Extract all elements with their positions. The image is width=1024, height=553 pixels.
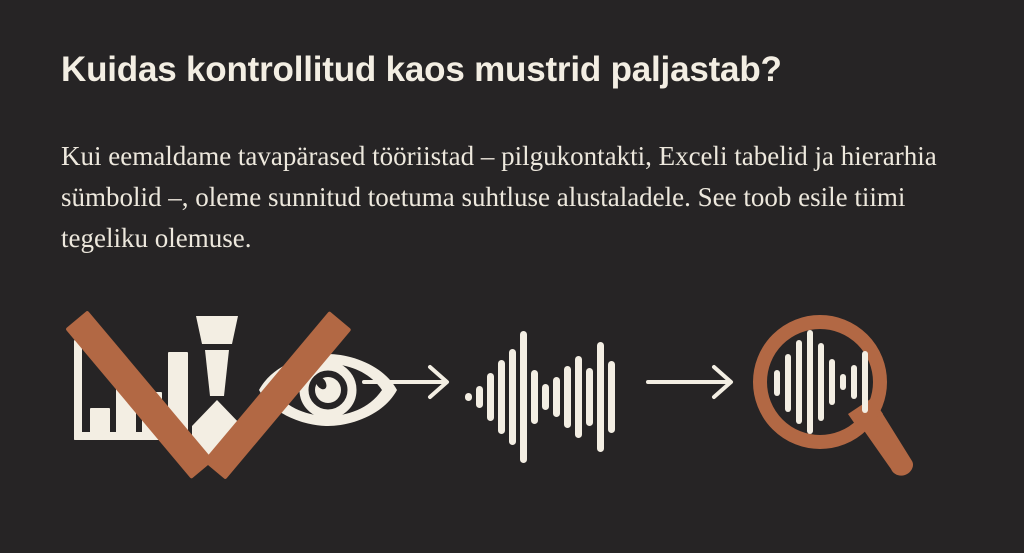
slide-canvas: Kuidas kontrollitud kaos mustrid paljast… [0,0,1024,553]
page-title: Kuidas kontrollitud kaos mustrid paljast… [61,48,961,92]
arrow-right-icon-2 [646,362,746,402]
icon-sequence [0,300,1024,500]
old-tools-crossed-out-icon [66,300,348,480]
magnifier-waveform-icon [748,310,918,490]
arrow-right-icon-1 [362,362,462,402]
audio-waveform-icon [462,322,622,472]
body-paragraph: Kui eemaldame tavapärased tööriistad – p… [61,136,961,259]
